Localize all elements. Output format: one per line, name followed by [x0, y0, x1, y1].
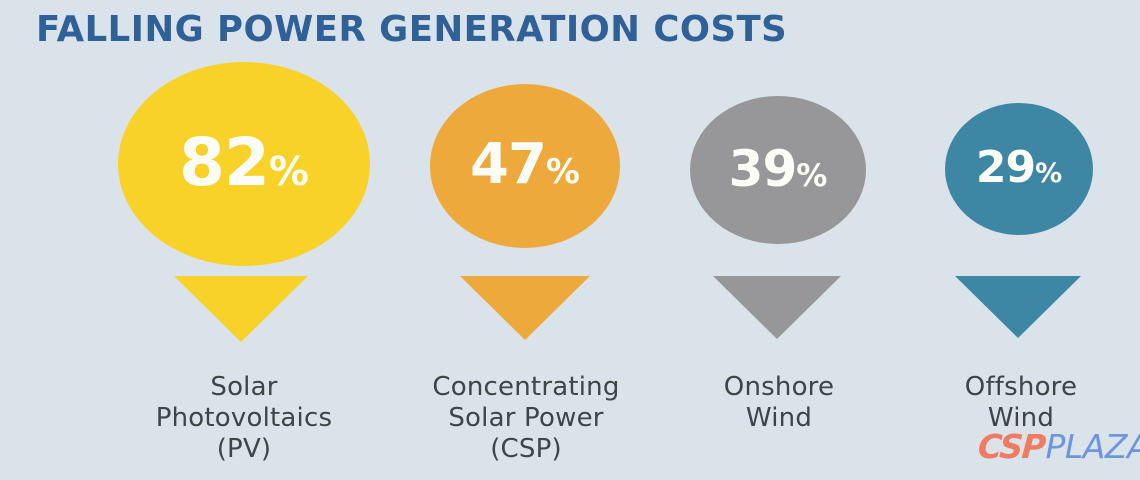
percent-symbol-csp: % — [546, 155, 580, 189]
down-arrow-icon-csp — [460, 276, 590, 340]
down-arrow-icon-offshore-wind — [955, 276, 1081, 338]
stat-value-solar-pv: 82% — [179, 130, 309, 196]
stat-bubble-onshore-wind: 39% — [690, 96, 866, 244]
stat-number-solar-pv: 82 — [179, 130, 269, 196]
percent-symbol-onshore-wind: % — [796, 161, 827, 192]
stat-caption-solar-pv: Solar Photovoltaics (PV) — [104, 372, 384, 465]
stat-value-offshore-wind: 29% — [976, 146, 1062, 190]
cspplaza-watermark-logo: CSPPLAZA — [978, 430, 1140, 463]
stat-value-csp: 47% — [470, 137, 580, 193]
percent-symbol-offshore-wind: % — [1035, 160, 1062, 187]
stat-bubble-csp: 47% — [430, 84, 620, 248]
stat-number-offshore-wind: 29 — [976, 146, 1035, 190]
stat-value-onshore-wind: 39% — [729, 144, 828, 194]
infographic-canvas: FALLING POWER GENERATION COSTS 82% Solar… — [0, 0, 1140, 480]
watermark-csp-text: CSP — [977, 430, 1046, 463]
stat-bubble-offshore-wind: 29% — [945, 103, 1093, 235]
stat-number-onshore-wind: 39 — [729, 144, 797, 194]
page-title: FALLING POWER GENERATION COSTS — [36, 8, 787, 52]
stat-bubble-solar-pv: 82% — [118, 62, 370, 266]
stat-caption-csp: Concentrating Solar Power (CSP) — [390, 372, 662, 465]
stat-number-csp: 47 — [470, 137, 546, 193]
percent-symbol-solar-pv: % — [269, 152, 309, 192]
down-arrow-icon-solar-pv — [174, 276, 308, 342]
stat-caption-offshore-wind: Offshore Wind — [906, 372, 1136, 434]
stat-caption-onshore-wind: Onshore Wind — [662, 372, 896, 434]
watermark-plaza-text: PLAZA — [1046, 430, 1140, 463]
down-arrow-icon-onshore-wind — [713, 276, 841, 339]
